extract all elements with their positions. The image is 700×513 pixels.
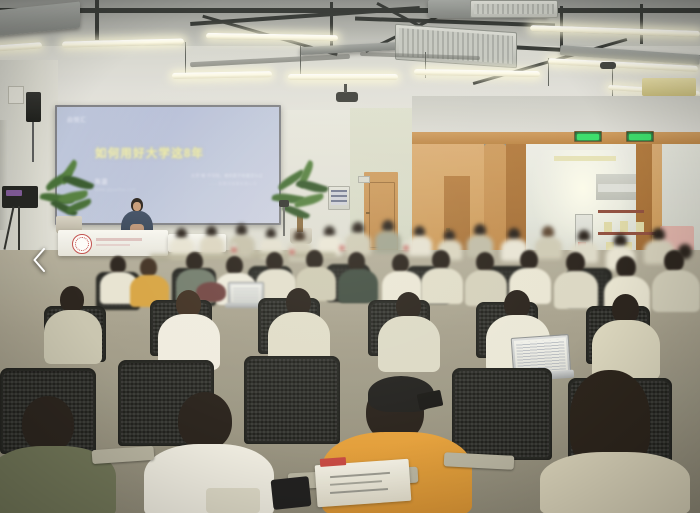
partition-header-beam bbox=[412, 132, 700, 144]
audience-body bbox=[44, 310, 102, 364]
shelf-item bbox=[636, 222, 644, 232]
projector-mount bbox=[344, 84, 347, 93]
audience-head bbox=[664, 250, 684, 272]
audience-head bbox=[616, 256, 636, 278]
ceiling-truss bbox=[95, 0, 99, 40]
camera-indicator bbox=[6, 190, 22, 196]
audience-body bbox=[338, 269, 378, 303]
audience-cap bbox=[196, 282, 226, 302]
ceiling-upper-shadow bbox=[0, 0, 700, 46]
light-hanger bbox=[185, 42, 186, 74]
shelf-item bbox=[604, 222, 612, 232]
mic-stand bbox=[283, 206, 285, 236]
chair-mesh bbox=[247, 359, 337, 441]
audience-body bbox=[554, 271, 598, 309]
photo-canvas: 启悦汇 如何用好大学这8年 陈霆 www.qiyuehui.com 大学“难”不… bbox=[0, 0, 700, 513]
corridor-light bbox=[554, 156, 616, 161]
gallery-prev-button[interactable] bbox=[26, 243, 52, 277]
bookshelf-shelf bbox=[598, 232, 656, 235]
exit-sign bbox=[574, 131, 602, 142]
chair bbox=[452, 368, 552, 460]
audience-body bbox=[200, 236, 224, 256]
ceiling-equipment-box bbox=[642, 78, 696, 96]
corridor-vent bbox=[598, 184, 638, 192]
smartphone bbox=[271, 476, 312, 510]
audience-head bbox=[22, 396, 74, 452]
audience-body bbox=[465, 270, 507, 306]
podium-text-line bbox=[96, 244, 130, 246]
audience-head bbox=[476, 252, 494, 272]
wall-bracket bbox=[8, 86, 24, 104]
water-bottle bbox=[404, 242, 408, 253]
wall-control-panel bbox=[328, 186, 350, 210]
mic-head bbox=[279, 200, 289, 207]
audience-body bbox=[378, 316, 440, 372]
door-handle bbox=[366, 212, 370, 214]
ceiling-projector bbox=[336, 92, 358, 102]
wall-column bbox=[0, 120, 8, 230]
audience-head bbox=[566, 252, 585, 273]
presenter-face bbox=[133, 202, 141, 211]
audience-body bbox=[408, 236, 432, 256]
ceiling-light bbox=[288, 74, 398, 80]
wall-speaker bbox=[26, 92, 41, 122]
audience-head bbox=[520, 250, 538, 270]
ceiling-truss bbox=[330, 2, 333, 48]
podium-emblem bbox=[72, 234, 92, 254]
audience-body bbox=[375, 231, 401, 253]
chair-mesh bbox=[455, 371, 549, 457]
audience-body bbox=[421, 268, 463, 304]
audience-head bbox=[60, 286, 84, 313]
bookshelf-shelf bbox=[598, 210, 644, 213]
audience-head bbox=[178, 392, 232, 450]
podium-text-line bbox=[96, 238, 142, 241]
hand bbox=[206, 488, 260, 513]
audience-body bbox=[652, 270, 700, 312]
water-bottle bbox=[290, 246, 294, 257]
audience-body bbox=[535, 237, 562, 259]
ceiling-spotlight bbox=[600, 62, 616, 69]
water-bottle bbox=[232, 244, 236, 255]
exit-sign bbox=[626, 131, 654, 142]
projection-screen: 启悦汇 如何用好大学这8年 陈霆 www.qiyuehui.com 大学“难”不… bbox=[55, 105, 281, 225]
laptop-screen bbox=[231, 285, 261, 303]
ceiling-vent bbox=[470, 0, 558, 18]
ceiling-truss bbox=[640, 4, 643, 44]
upper-right-wall bbox=[412, 96, 700, 136]
chair bbox=[244, 356, 340, 444]
chevron-left-icon bbox=[31, 247, 47, 273]
slide-glare bbox=[57, 107, 279, 223]
audience-head bbox=[432, 250, 450, 270]
water-bottle bbox=[340, 242, 344, 253]
tripod-leg bbox=[18, 206, 20, 252]
presentation-slide: 启悦汇 如何用好大学这8年 陈霆 www.qiyuehui.com 大学“难”不… bbox=[57, 107, 279, 223]
door-sign bbox=[358, 176, 370, 183]
speaker-cable bbox=[32, 122, 34, 162]
shelf-item bbox=[620, 221, 628, 232]
audience-body bbox=[540, 452, 690, 513]
